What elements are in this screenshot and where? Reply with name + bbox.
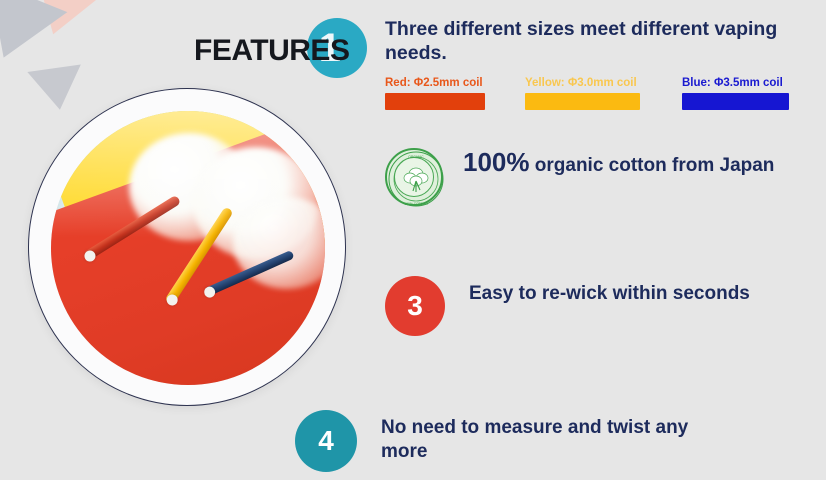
- coil-size-blue: Blue: Φ3.5mm coil: [682, 76, 789, 110]
- svg-text:100% COTTON: 100% COTTON: [404, 202, 428, 206]
- product-image-frame: [28, 88, 346, 406]
- feature-row-re-wick: 3 Easy to re-wick within seconds: [385, 276, 750, 336]
- gray-triangle-small-icon: [27, 64, 86, 113]
- organic-cotton-seal-icon: ORGANIC 100% COTTON: [385, 148, 443, 206]
- svg-text:ORGANIC: ORGANIC: [408, 155, 424, 159]
- coil-size-blue-label: Blue: Φ3.5mm coil: [682, 76, 789, 90]
- coil-size-yellow-label: Yellow: Φ3.0mm coil: [525, 76, 640, 90]
- gray-triangle-large-icon: [0, 0, 67, 73]
- feature-row-no-measure: 4 No need to measure and twist any more: [295, 410, 701, 472]
- organic-cotton-text: 100% organic cotton from Japan: [463, 148, 774, 178]
- features-label: FEATURES: [194, 34, 349, 68]
- coil-size-red-label: Red: Φ2.5mm coil: [385, 76, 485, 90]
- feature-slide: 1 FEATURES Three different sizes meet di…: [0, 0, 826, 480]
- features-list: Three different sizes meet different vap…: [382, 0, 826, 480]
- feature-number-badge-3: 3: [385, 276, 445, 336]
- features-heading: 1 FEATURES: [190, 14, 375, 84]
- feature-text-no-measure: No need to measure and twist any more: [381, 410, 701, 464]
- feature-number-3: 3: [407, 290, 423, 322]
- coil-size-legend: Red: Φ2.5mm coil Yellow: Φ3.0mm coil Blu…: [382, 76, 826, 112]
- coil-size-yellow-swatch: [525, 93, 640, 110]
- coil-size-blue-swatch: [682, 93, 789, 110]
- coil-size-red-swatch: [385, 93, 485, 110]
- coil-size-yellow: Yellow: Φ3.0mm coil: [525, 76, 640, 110]
- coil-rods-photo: [51, 111, 325, 385]
- organic-cotton-percent: 100%: [463, 147, 530, 177]
- feature-row-organic-cotton: ORGANIC 100% COTTON 100% organic cotton …: [385, 148, 774, 206]
- feature-text-re-wick: Easy to re-wick within seconds: [469, 276, 750, 306]
- coil-size-red: Red: Φ2.5mm coil: [385, 76, 485, 110]
- organic-cotton-rest: organic cotton from Japan: [530, 155, 775, 176]
- headline-text: Three different sizes meet different vap…: [385, 17, 805, 65]
- feature-number-4: 4: [318, 425, 334, 457]
- feature-number-badge-4: 4: [295, 410, 357, 472]
